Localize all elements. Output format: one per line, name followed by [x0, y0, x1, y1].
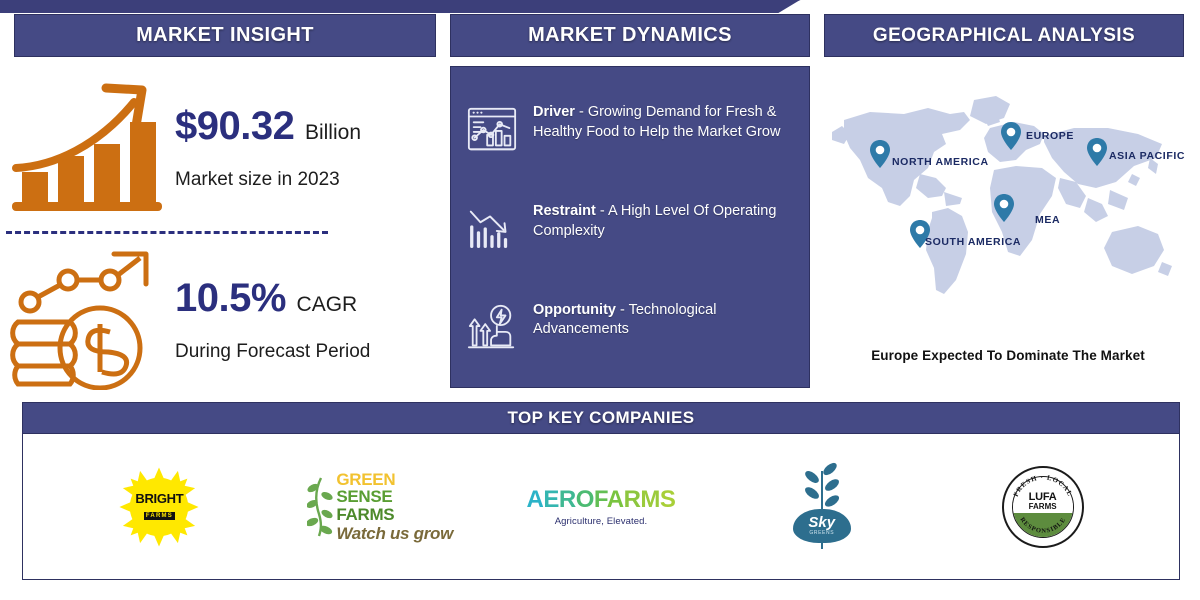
- dynamics-item-driver: Driver - Growing Demand for Fresh & Heal…: [461, 99, 797, 161]
- dynamics-opportunity-sep: -: [616, 302, 629, 318]
- map-label-europe: EUROPE: [1026, 130, 1074, 142]
- cagr-value-row: 10.5% CAGR: [175, 277, 436, 319]
- gsf-line-3: FARMS: [336, 506, 453, 523]
- brightfarms-sunburst-logo: BRIGHT FARMS: [116, 464, 202, 550]
- dashboard-analytics-icon: [461, 99, 523, 161]
- dynamics-driver-sep: -: [575, 104, 588, 120]
- dynamics-restraint-text: Restraint - A High Level Of Operating Co…: [533, 198, 797, 241]
- bar-chart-growth-arrow-icon: [6, 68, 171, 228]
- infographic-root: MARKET INSIGHT $90.32: [0, 0, 1200, 600]
- market-size-unit: Billion: [305, 121, 361, 144]
- map-label-north-america: NORTH AMERICA: [892, 156, 989, 168]
- market-size-caption: Market size in 2023: [175, 169, 436, 191]
- map-label-mea: MEA: [1035, 214, 1060, 226]
- map-pin-asia-pacific: [1087, 138, 1107, 166]
- green-sense-farms-wordmark: GREEN SENSE FARMS Watch us grow: [336, 471, 453, 542]
- map-label-asia-pacific: ASIA PACIFIC: [1109, 150, 1185, 162]
- coins-growth-dollar-icon: [6, 240, 171, 400]
- brightfarms-wordmark: BRIGHT FARMS: [135, 492, 183, 521]
- insight-divider: [6, 231, 328, 234]
- map-pin-europe: [1001, 122, 1021, 150]
- brightfarms-sub: FARMS: [144, 512, 175, 520]
- top-key-companies-panel: TOP KEY COMPANIES: [22, 402, 1180, 580]
- lufa-farms-seal-logo: LUFA FARMS FRESH · LOCAL RESPONSIBLE: [1002, 466, 1084, 548]
- map-label-south-america: SOUTH AMERICA: [925, 236, 1021, 248]
- company-lufa-farms[interactable]: LUFA FARMS FRESH · LOCAL RESPONSIBLE: [958, 457, 1128, 557]
- gsf-line-2: SENSE: [336, 488, 453, 505]
- market-dynamics-title: MARKET DYNAMICS: [450, 14, 810, 57]
- cagr-value: 10.5%: [175, 276, 286, 320]
- map-pin-mea: [994, 194, 1014, 222]
- aerofarms-logo: AEROFARMS Agriculture, Elevated.: [527, 486, 676, 527]
- geographical-analysis-title: GEOGRAPHICAL ANALYSIS: [824, 14, 1184, 57]
- dynamics-item-restraint: Restraint - A High Level Of Operating Co…: [461, 198, 797, 260]
- metric-market-size: $90.32 Billion Market size in 2023: [6, 65, 436, 230]
- company-green-sense-farms[interactable]: GREEN SENSE FARMS Watch us grow: [295, 457, 465, 557]
- declining-bar-chart-icon: [461, 198, 523, 260]
- market-insight-body: $90.32 Billion Market size in 2023: [6, 60, 438, 390]
- dynamics-driver-label: Driver: [533, 104, 575, 120]
- geographical-analysis-body: NORTH AMERICA EUROPE ASIA PACIFIC MEA SO…: [824, 62, 1192, 392]
- metric-market-size-text: $90.32 Billion Market size in 2023: [171, 105, 436, 191]
- innovation-hand-gear-icon: [461, 297, 523, 359]
- dynamics-restraint-label: Restraint: [533, 203, 596, 219]
- company-sky-greens[interactable]: Sky GREENS: [737, 457, 907, 557]
- sky-greens-logo: Sky GREENS: [787, 461, 857, 553]
- world-map: NORTH AMERICA EUROPE ASIA PACIFIC MEA SO…: [824, 74, 1192, 346]
- dynamics-opportunity-label: Opportunity: [533, 302, 616, 318]
- cagr-unit: CAGR: [297, 293, 358, 316]
- sky-greens-sub: GREENS: [809, 531, 834, 536]
- vine-plant-icon: [307, 476, 333, 538]
- cagr-caption: During Forecast Period: [175, 341, 436, 363]
- green-sense-farms-logo: GREEN SENSE FARMS Watch us grow: [307, 471, 453, 542]
- sky-greens-wordmark: Sky: [808, 515, 835, 530]
- top-key-companies-title: TOP KEY COMPANIES: [23, 403, 1179, 434]
- dynamics-item-opportunity: Opportunity - Technological Advancements: [461, 297, 797, 359]
- brightfarms-name: BRIGHT: [135, 492, 183, 505]
- map-pin-north-america: [870, 140, 890, 168]
- metric-cagr-text: 10.5% CAGR During Forecast Period: [171, 277, 436, 363]
- market-insight-title: MARKET INSIGHT: [14, 14, 436, 57]
- market-size-value-row: $90.32 Billion: [175, 105, 436, 147]
- aerofarms-wordmark: AEROFARMS: [527, 486, 676, 514]
- lufa-seal-ring-text: FRESH · LOCAL RESPONSIBLE: [1004, 468, 1082, 546]
- dynamics-restraint-sep: -: [596, 203, 608, 219]
- dynamics-driver-text: Driver - Growing Demand for Fresh & Heal…: [533, 99, 797, 142]
- company-logo-strip: BRIGHT FARMS: [23, 434, 1179, 579]
- gsf-line-1: GREEN: [336, 471, 453, 488]
- company-aerofarms[interactable]: AEROFARMS Agriculture, Elevated.: [516, 457, 686, 557]
- market-size-value: $90.32: [175, 104, 294, 148]
- company-brightfarms[interactable]: BRIGHT FARMS: [74, 457, 244, 557]
- geo-dominance-caption: Europe Expected To Dominate The Market: [824, 348, 1192, 363]
- top-banner: [0, 0, 800, 13]
- svg-text:RESPONSIBLE: RESPONSIBLE: [1018, 516, 1067, 535]
- market-dynamics-body: Driver - Growing Demand for Fresh & Heal…: [450, 66, 810, 388]
- dynamics-opportunity-text: Opportunity - Technological Advancements: [533, 297, 797, 340]
- svg-text:FRESH · LOCAL: FRESH · LOCAL: [1012, 474, 1073, 498]
- gsf-tagline: Watch us grow: [336, 525, 453, 542]
- aerofarms-tagline: Agriculture, Elevated.: [527, 516, 676, 527]
- metric-cagr: 10.5% CAGR During Forecast Period: [6, 240, 436, 400]
- sky-greens-cloud-shape: Sky GREENS: [793, 509, 851, 543]
